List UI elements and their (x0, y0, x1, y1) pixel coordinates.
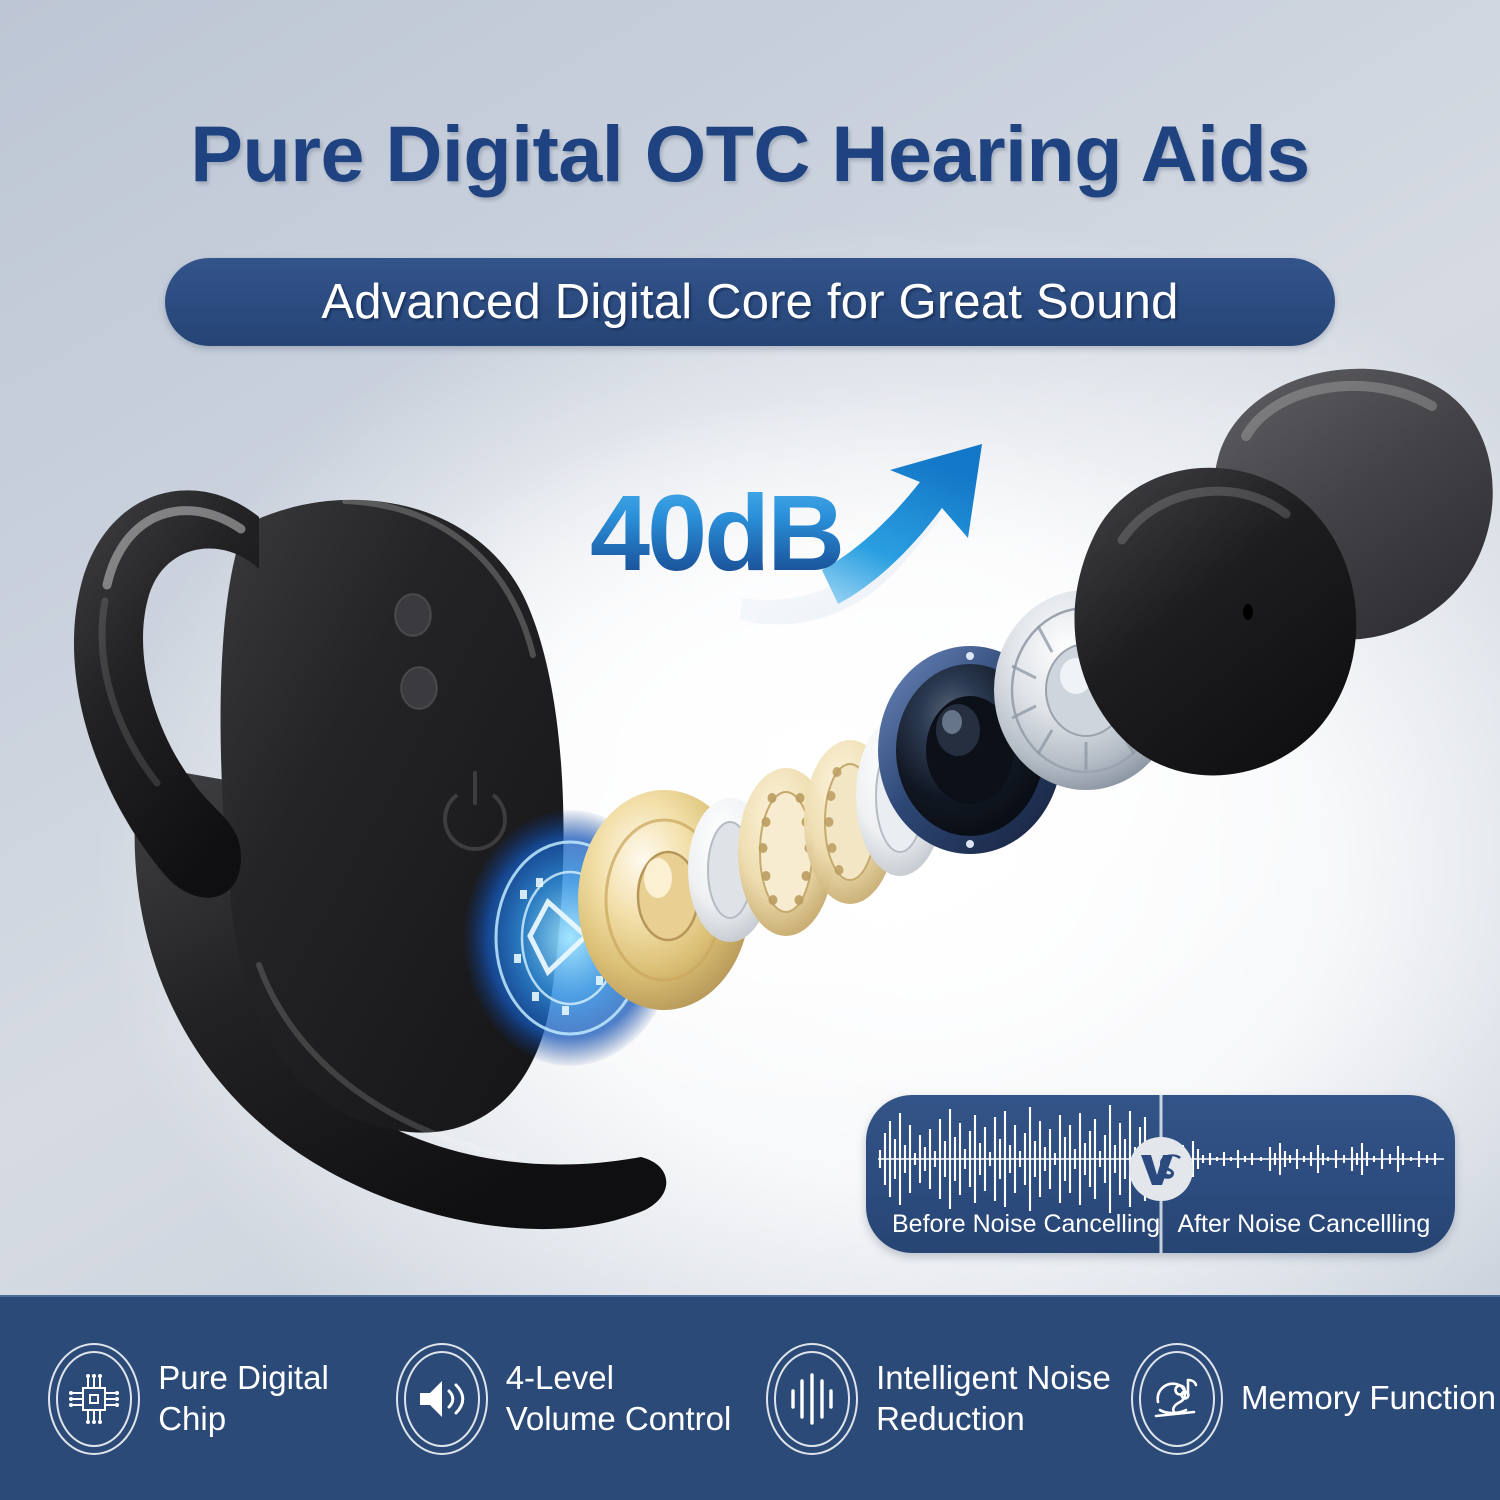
waveform-before (878, 1105, 1156, 1213)
subtitle-text: Advanced Digital Core for Great Sound (321, 274, 1178, 330)
feature-noise-reduction[interactable]: Intelligent Noise Reduction (750, 1343, 1125, 1455)
volume-icon (394, 1343, 490, 1455)
feature-bar: Pure Digital Chip 4-Level Volume Control (0, 1295, 1500, 1500)
feature-pure-digital-chip[interactable]: Pure Digital Chip (0, 1343, 375, 1455)
feature-memory-function[interactable]: Memory Function (1125, 1343, 1500, 1455)
page-title: Pure Digital OTC Hearing Aids (0, 108, 1500, 200)
waveform-after (1168, 1141, 1444, 1177)
vs-monogram-icon (1137, 1149, 1185, 1189)
earbud (1040, 340, 1500, 820)
memory-ear-icon (1129, 1343, 1225, 1455)
mic-pinhole (1243, 604, 1253, 620)
sound-bars-icon (764, 1343, 860, 1455)
noise-cancelling-card: Before Noise Cancelling After Noise Canc… (866, 1095, 1455, 1253)
before-label: Before Noise Cancelling (892, 1210, 1160, 1239)
vs-badge (1129, 1137, 1193, 1201)
feature-label: 4-Level Volume Control (506, 1358, 732, 1439)
chip-icon (46, 1343, 142, 1455)
product-marketing-image: Pure Digital OTC Hearing Aids Advanced D… (0, 0, 1500, 1500)
after-label: After Noise Cancellling (1177, 1210, 1430, 1239)
feature-label: Pure Digital Chip (158, 1358, 329, 1439)
feature-volume-control[interactable]: 4-Level Volume Control (375, 1343, 750, 1455)
feature-label: Intelligent Noise Reduction (876, 1358, 1111, 1439)
feature-label: Memory Function (1241, 1378, 1496, 1418)
